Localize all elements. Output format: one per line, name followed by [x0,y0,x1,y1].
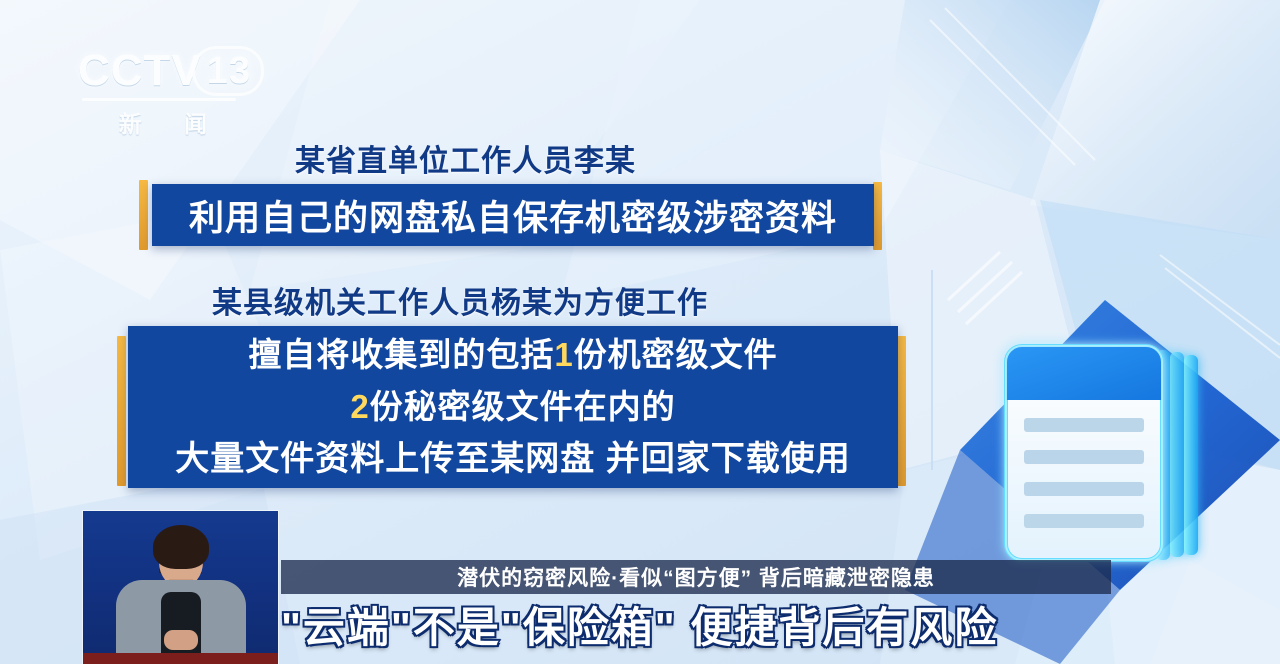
caption-text: 潜伏的窃密风险·看似“图方便” 背后暗藏泄密隐患 [457,562,935,592]
statement-banner-2: 擅自将收集到的包括1份机密级文件 2份秘密级文件在内的 大量文件资料上传至某网盘… [128,326,898,488]
headline-bar: "云端"不是"保险箱" 便捷背后有风险 [281,596,1201,652]
statement-banner-1: 利用自己的网盘私自保存机密级涉密资料 [152,184,874,246]
accent-bar-left-2 [117,336,126,486]
accent-bar-left-1 [139,180,148,250]
broadcast-frame: CCTV 13 新 闻 某省直单位工作人员李某 利用自己的网盘私自保存机密级涉密… [0,0,1280,664]
highlight-number: 1 [554,336,573,373]
kicker-line-2: 某县级机关工作人员杨某为方便工作 [212,278,822,331]
news-anchor-inset [83,511,278,664]
anchor-desk [83,653,278,664]
banner-line: 2份秘密级文件在内的 [128,382,898,432]
caption-bar: 潜伏的窃密风险·看似“图方便” 背后暗藏泄密隐患 [281,560,1111,594]
highlight-number: 2 [350,388,369,425]
kicker-line-1: 某省直单位工作人员李某 [295,136,735,189]
anchor-hands [164,630,198,650]
banner-line: 擅自将收集到的包括1份机密级文件 [128,330,898,380]
anchor-hair [153,525,209,569]
banner-line-post: 份秘密级文件在内的 [370,388,676,425]
kicker-text-1: 某省直单位工作人员李某 [295,145,636,178]
banner-line-pre: 擅自将收集到的包括 [248,336,554,373]
banner-line-post: 份机密级文件 [574,336,778,373]
banner-line: 大量文件资料上传至某网盘 并回家下载使用 [128,434,898,484]
accent-bar-right-2 [897,336,906,486]
kicker-text-2: 某县级机关工作人员杨某为方便工作 [212,287,708,320]
headline-text: "云端"不是"保险箱" 便捷背后有风险 [281,594,998,655]
accent-bar-right-1 [873,182,882,250]
banner-line: 利用自己的网盘私自保存机密级涉密资料 [152,190,874,241]
